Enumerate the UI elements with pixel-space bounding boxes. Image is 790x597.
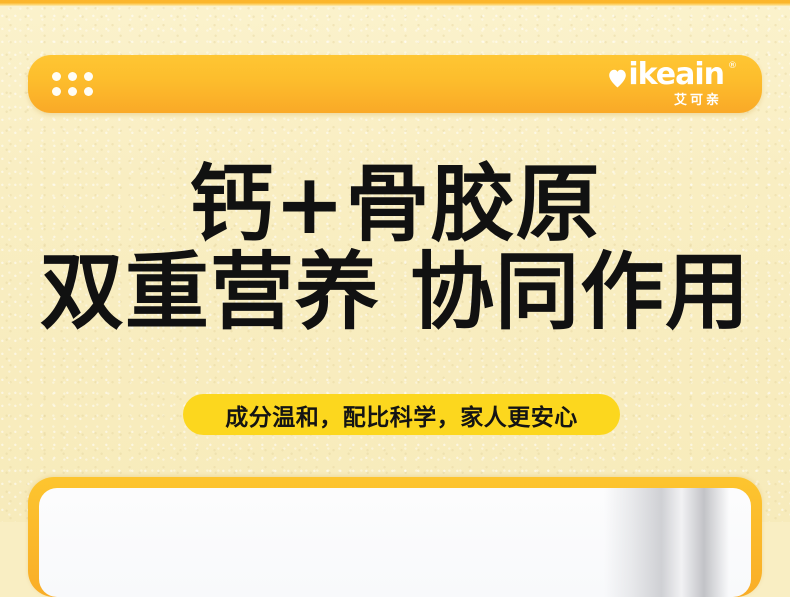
grid-dot	[68, 87, 77, 96]
product-card	[28, 477, 762, 597]
subtitle-text: 成分温和，配比科学，家人更安心	[225, 398, 578, 432]
grid-dot	[84, 87, 93, 96]
header-bar: ikeain ® 艾可亲	[28, 55, 762, 113]
subtitle-pill: 成分温和，配比科学，家人更安心	[183, 394, 620, 435]
brand-chinese-name: 艾可亲	[674, 89, 722, 108]
product-card-inner	[39, 488, 751, 597]
brand-wordmark-text: ikeain	[628, 60, 724, 90]
grid-dot	[84, 72, 93, 81]
grid-dot	[52, 87, 61, 96]
grid-dot	[68, 72, 77, 81]
registered-trademark-icon: ®	[728, 61, 737, 71]
heart-a-icon	[608, 69, 627, 88]
headline-line-1: 钙+骨胶原	[0, 158, 790, 250]
headline-block: 钙+骨胶原 双重营养 协同作用	[0, 158, 790, 338]
brand-logo[interactable]: ikeain ® 艾可亲	[588, 61, 738, 109]
grid-dots-icon[interactable]	[52, 72, 93, 96]
headline-line-2: 双重营养 协同作用	[0, 246, 790, 338]
brand-wordmark: ikeain	[608, 60, 724, 90]
product-bottle-image	[604, 488, 729, 597]
top-accent-strip	[0, 0, 790, 6]
grid-dot	[52, 72, 61, 81]
